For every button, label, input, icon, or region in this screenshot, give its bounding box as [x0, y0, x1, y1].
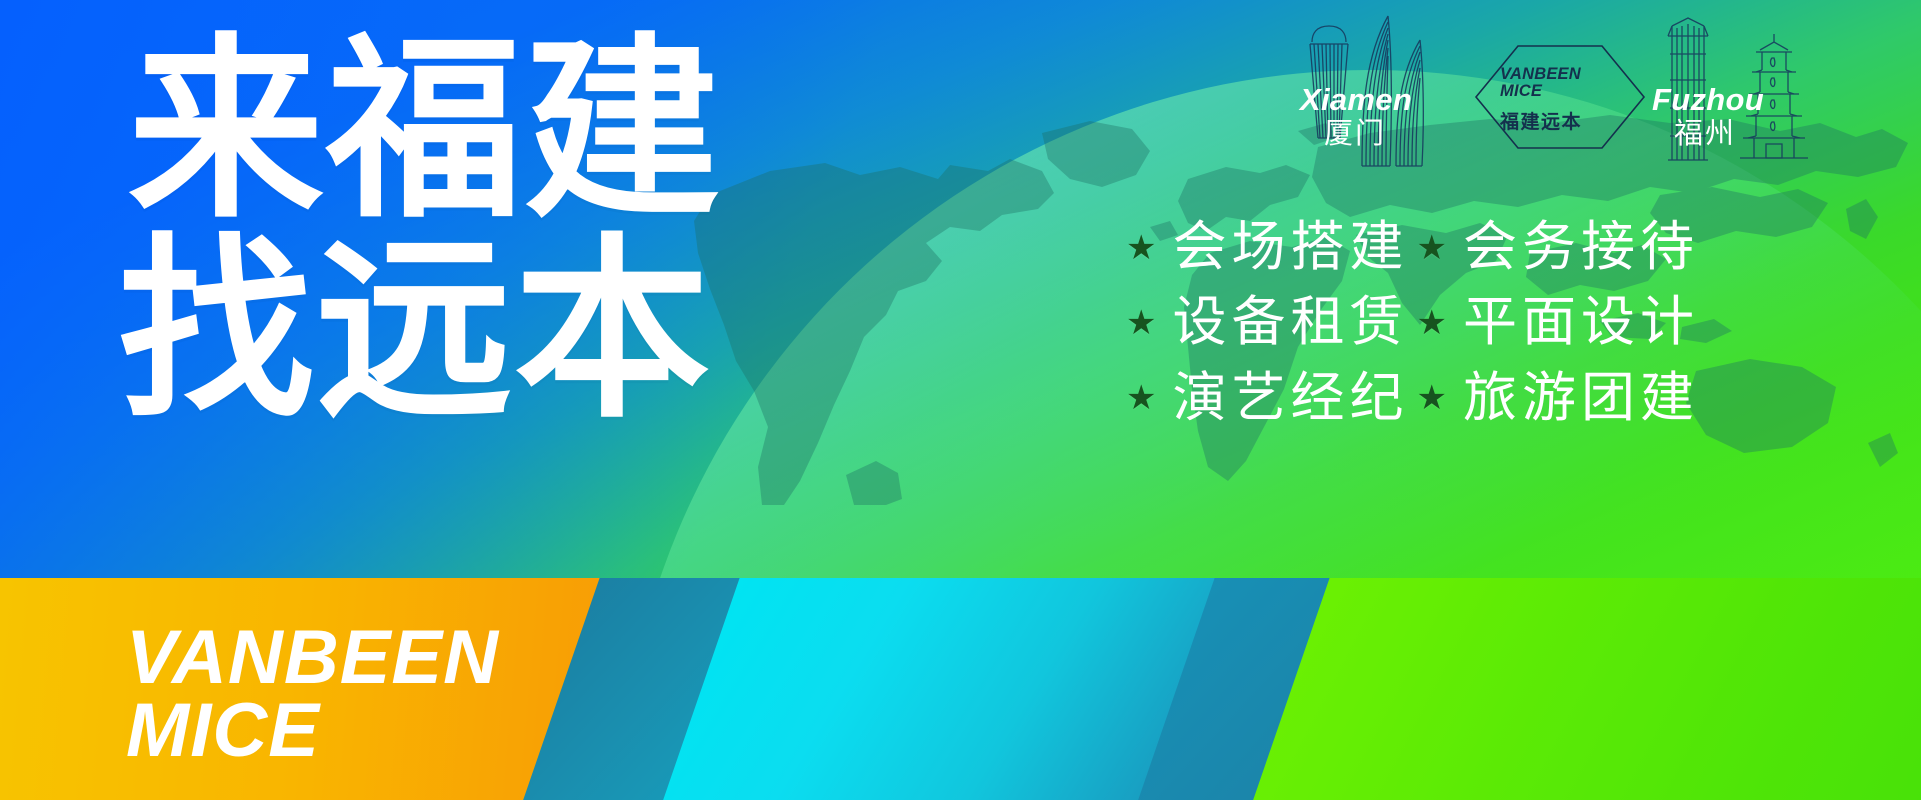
city-name-xiamen-cn: 厦门: [1324, 120, 1386, 149]
city-name-fuzhou: Fuzhou: [1652, 84, 1764, 115]
badge-brand-en-line1: VANBEEN: [1500, 65, 1581, 83]
banner-main-area: 来福建 找远本 ★ 会场搭建 ★ 会务接待 ★ 设备租赁 ★ 平面设计 ★: [0, 0, 1921, 578]
page-title: 来福建 找远本: [128, 36, 722, 426]
service-item-1[interactable]: ★ 会务接待: [1416, 212, 1698, 283]
badge-brand-cn: 福建远本: [1500, 107, 1630, 134]
star-icon: ★: [1126, 231, 1156, 265]
service-list: ★ 会场搭建 ★ 会务接待 ★ 设备租赁 ★ 平面设计 ★ 演艺经纪 ★ 旅游团: [1126, 212, 1699, 434]
footer-wordmark-line1: VANBEEN: [126, 622, 499, 695]
promotional-banner: 来福建 找远本 ★ 会场搭建 ★ 会务接待 ★ 设备租赁 ★ 平面设计 ★: [0, 0, 1921, 800]
service-label: 会务接待: [1463, 212, 1699, 283]
headline-line-1: 来福建: [128, 36, 722, 226]
badge-brand-en-line2: MICE: [1500, 82, 1542, 100]
star-icon: ★: [1416, 231, 1446, 265]
service-item-4[interactable]: ★ 演艺经纪: [1126, 363, 1408, 434]
service-label: 平面设计: [1463, 287, 1699, 358]
city-name-xiamen: Xiamen: [1300, 84, 1412, 115]
service-label: 设备租赁: [1172, 287, 1408, 358]
service-label: 旅游团建: [1463, 363, 1699, 434]
star-icon: ★: [1416, 306, 1446, 340]
city-name-fuzhou-cn: 福州: [1674, 120, 1736, 149]
service-item-2[interactable]: ★ 设备租赁: [1126, 287, 1408, 358]
stripe-green: [1240, 578, 1921, 800]
star-icon: ★: [1126, 306, 1156, 340]
headline-line-2: 找远本: [118, 236, 722, 426]
brand-badge: VANBEEN MICE 福建远本: [1474, 44, 1646, 150]
star-icon: ★: [1126, 381, 1156, 415]
service-item-0[interactable]: ★ 会场搭建: [1126, 212, 1408, 283]
footer-wordmark-line2: MICE: [126, 695, 499, 768]
star-icon: ★: [1416, 381, 1446, 415]
city-branding-cluster: Xiamen 厦门 VANBEEN MICE 福建远本: [1300, 8, 1921, 168]
badge-brand-en: VANBEEN MICE: [1500, 66, 1625, 100]
service-label: 会场搭建: [1172, 212, 1408, 283]
service-label: 演艺经纪: [1172, 363, 1408, 434]
banner-footer-bar: VANBEEN MICE: [0, 578, 1921, 800]
service-item-5[interactable]: ★ 旅游团建: [1416, 363, 1698, 434]
footer-wordmark: VANBEEN MICE: [126, 622, 499, 768]
service-item-3[interactable]: ★ 平面设计: [1416, 287, 1698, 358]
